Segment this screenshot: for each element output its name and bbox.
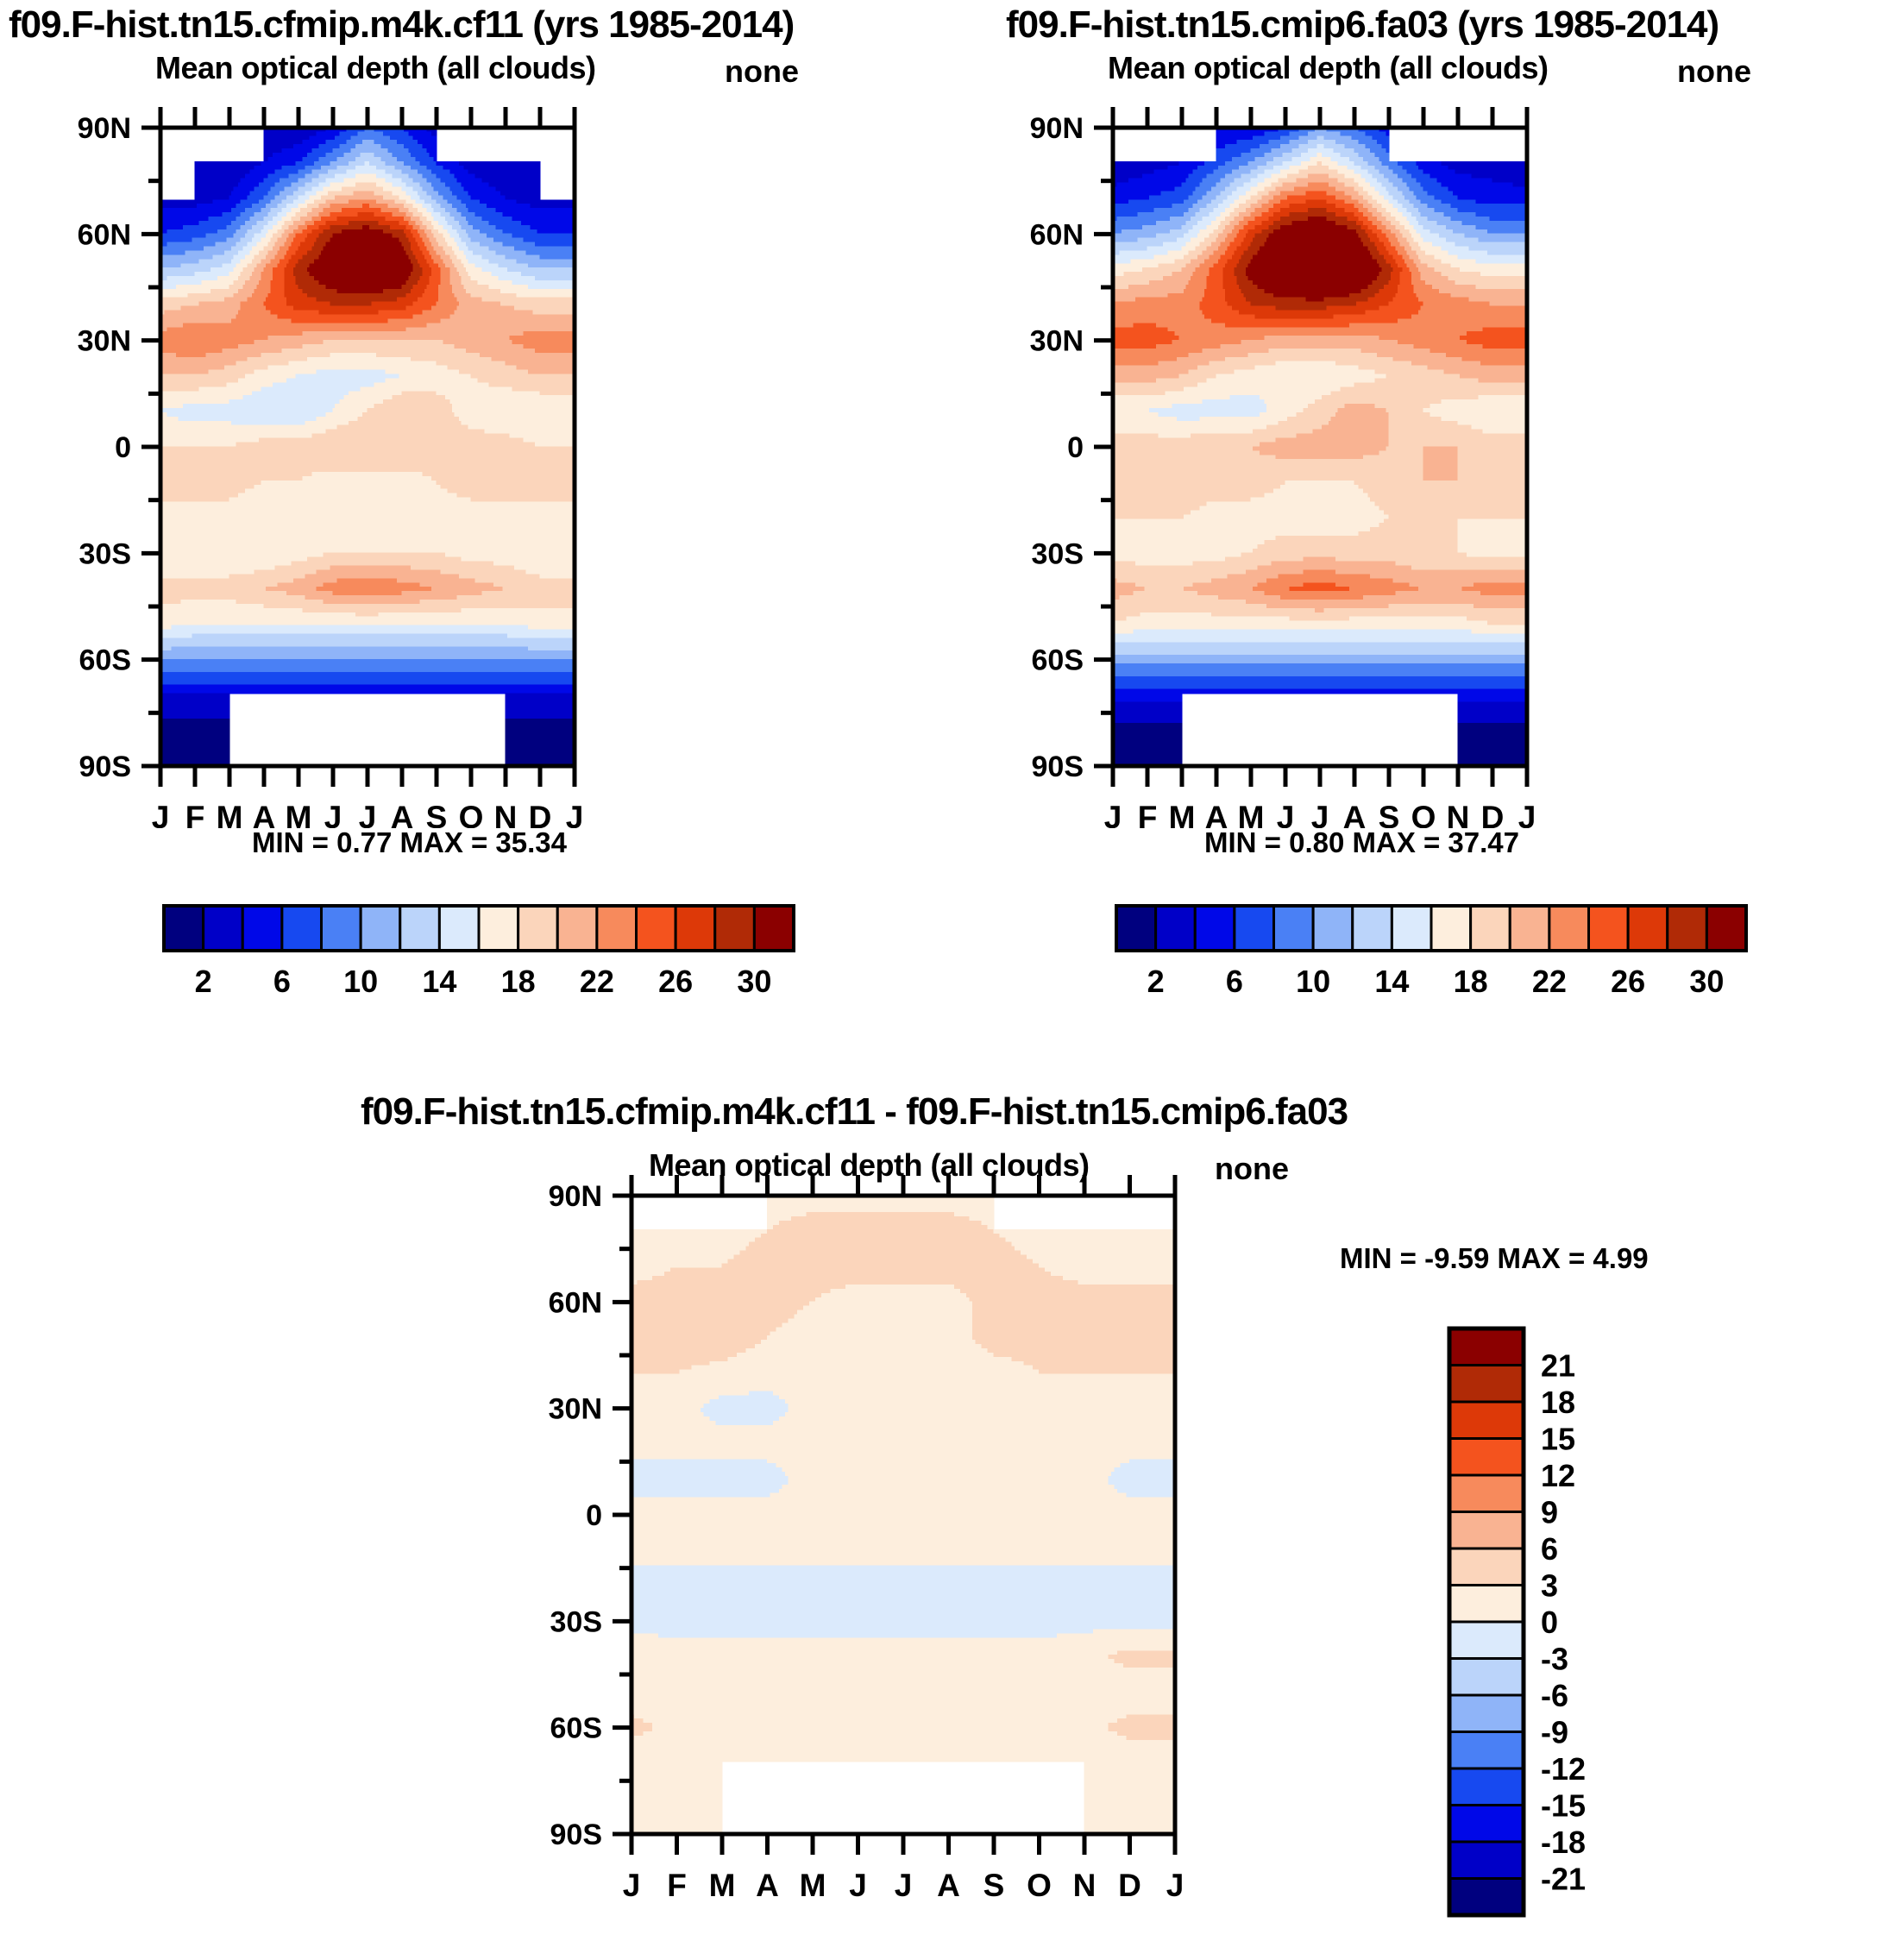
colorbar-cell [1449, 1732, 1524, 1769]
colorbar-tick-label: 6 [273, 964, 291, 999]
colorbar-tick-label: 14 [1374, 964, 1409, 999]
colorbar-cell [1449, 1512, 1524, 1549]
colorbar-tick-label: 10 [1296, 964, 1330, 999]
colorbar-cell [637, 906, 676, 951]
y-axis-label: 30N [78, 325, 131, 358]
colorbar-cell [1431, 906, 1471, 951]
colorbar-tick-label: 21 [1541, 1348, 1575, 1384]
x-axis-label: O [1411, 800, 1436, 828]
colorbar-cell [242, 906, 282, 951]
colorbar-cell [164, 906, 204, 951]
x-axis-label: D [1481, 800, 1505, 828]
colorbar-cell [1549, 906, 1589, 951]
y-axis-label: 0 [586, 1499, 602, 1532]
colorbar-cell [1589, 906, 1629, 951]
colorbar-cell [597, 906, 637, 951]
colorbar-cell [1510, 906, 1549, 951]
x-axis-label: S [426, 800, 448, 828]
colorbar-tick-label: 26 [1611, 964, 1645, 999]
colorbar-cell [439, 906, 479, 951]
colorbar-cells [164, 906, 794, 951]
y-axis-label: 60N [1030, 218, 1084, 251]
colorbar-tick-label: 12 [1541, 1458, 1575, 1493]
colorbar-tick-label: 0 [1541, 1605, 1558, 1640]
colorbar-cell [1156, 906, 1196, 951]
y-axis-label: 60S [550, 1712, 603, 1745]
x-axis-label: M [1169, 800, 1196, 828]
y-axis-label: 90S [550, 1819, 603, 1851]
y-axis-label: 30S [550, 1605, 603, 1638]
x-axis-label: J [623, 1868, 641, 1903]
plot-diff-contour: 90N60N30N030S60S90SJFMAMJJASONDJ [518, 1156, 1311, 1924]
x-axis-label: D [529, 800, 552, 828]
y-axis-label: 90S [79, 751, 132, 783]
colorbar-cell [518, 906, 558, 951]
colorbar-cell [676, 906, 715, 951]
x-axis-label: A [756, 1868, 779, 1903]
y-axis-label: 30N [549, 1393, 602, 1426]
y-axis-label: 60N [78, 218, 131, 251]
colorbar-cell [715, 906, 755, 951]
colorbar-cell [1274, 906, 1314, 951]
y-axis-ticks [1094, 128, 1113, 766]
panel-left-minmax: MIN = 0.77 MAX = 35.34 [252, 826, 567, 859]
colorbar-tick-label: 30 [737, 964, 771, 999]
colorbar-cell [1449, 1768, 1524, 1806]
colorbar-cell [1235, 906, 1274, 951]
colorbar-tick-label: -6 [1541, 1678, 1568, 1713]
colorbar-cell [1449, 1659, 1524, 1696]
y-axis-label: 90N [78, 112, 131, 145]
field-cells [160, 127, 575, 766]
colorbar-tick-label: 6 [1226, 964, 1243, 999]
colorbar-tick-label: 9 [1541, 1495, 1558, 1530]
y-axis-label: 0 [1067, 431, 1084, 464]
colorbar-cell [1706, 906, 1746, 951]
y-axis-label: 30N [1030, 325, 1084, 358]
x-axis-label: N [1447, 800, 1470, 828]
y-axis-label: 30S [79, 537, 132, 570]
colorbar-tick-label: 2 [1147, 964, 1165, 999]
colorbar-cell [1353, 906, 1392, 951]
colorbar-cell [1449, 1842, 1524, 1879]
colorbar-tick-label: 10 [343, 964, 378, 999]
y-axis-label: 90N [549, 1180, 602, 1213]
colorbar-cell [1628, 906, 1668, 951]
x-axis-label: S [983, 1868, 1005, 1903]
colorbar-cell [479, 906, 518, 951]
x-axis-label: J [359, 800, 377, 828]
colorbar-tick-label: 26 [658, 964, 693, 999]
field-cells [631, 1195, 1175, 1834]
x-axis-label: J [849, 1868, 867, 1903]
x-axis-label: O [459, 800, 484, 828]
colorbar-cell [1471, 906, 1511, 951]
colorbar-tick-label: 6 [1541, 1531, 1558, 1567]
y-axis-label: 90N [1030, 112, 1084, 145]
y-axis-ticks [141, 128, 160, 766]
colorbar-cell [361, 906, 400, 951]
x-axis-label: M [1238, 800, 1265, 828]
colorbar-cell [1449, 1475, 1524, 1512]
colorbar-tick-label: 3 [1541, 1568, 1558, 1604]
colorbar-tick-label: 22 [1532, 964, 1567, 999]
x-axis-label: J [1166, 1868, 1185, 1903]
panel-diff: f09.F-hist.tn15.cfmip.m4k.cf11 - f09.F-h… [0, 1070, 1904, 1929]
x-axis-label: J [324, 800, 342, 828]
colorbar-left[interactable]: 26101418222630 [0, 897, 952, 1009]
colorbar-cell [1668, 906, 1707, 951]
x-axis-label: F [1138, 800, 1158, 828]
colorbar-cell [1116, 906, 1156, 951]
colorbar-cell [1449, 1402, 1524, 1439]
colorbar-cell [1449, 1548, 1524, 1586]
colorbar-tick-label: -18 [1541, 1825, 1586, 1860]
x-axis-label: A [391, 800, 414, 828]
y-axis-label: 90S [1032, 751, 1084, 783]
colorbar-tick-label: -12 [1541, 1751, 1586, 1787]
x-axis-label: O [1027, 1868, 1052, 1903]
field-cells [1112, 127, 1527, 766]
colorbar-diff[interactable]: 211815129630-3-6-9-12-15-18-21 [1432, 1320, 1743, 1941]
x-axis-label: S [1379, 800, 1400, 828]
plot-right-contour: 90N60N30N030S60S90SJFMAMJJASONDJ [952, 0, 1904, 828]
x-axis-label: J [1104, 800, 1122, 828]
x-axis-label: F [185, 800, 205, 828]
colorbar-cell [1449, 1695, 1524, 1732]
colorbar-cell [1449, 1806, 1524, 1843]
colorbar-cell [1195, 906, 1235, 951]
panel-diff-minmax: MIN = -9.59 MAX = 4.99 [1340, 1242, 1649, 1275]
colorbar-cell [1449, 1366, 1524, 1403]
colorbar-tick-label: -21 [1541, 1862, 1586, 1897]
y-axis-ticks [613, 1196, 632, 1834]
colorbar-tick-label: 18 [501, 964, 536, 999]
panel-left: f09.F-hist.tn15.cfmip.m4k.cf11 (yrs 1985… [0, 0, 952, 1035]
colorbar-cell [1392, 906, 1431, 951]
colorbar-tick-label: 2 [195, 964, 212, 999]
colorbar-cell [1449, 1879, 1524, 1916]
colorbar-cell [1313, 906, 1353, 951]
plot-left-contour: 90N60N30N030S60S90SJFMAMJJASONDJ [0, 0, 952, 828]
x-axis-label: J [895, 1868, 913, 1903]
x-axis-label: J [152, 800, 170, 828]
panel-diff-title: f09.F-hist.tn15.cfmip.m4k.cf11 - f09.F-h… [361, 1090, 1348, 1134]
colorbar-cell [1449, 1329, 1524, 1366]
colorbar-right[interactable]: 26101418222630 [952, 897, 1904, 1009]
x-axis-label: J [1311, 800, 1329, 828]
colorbar-tick-label: 18 [1454, 964, 1488, 999]
colorbar-cell [1449, 1586, 1524, 1623]
colorbar-tick-label: 18 [1541, 1385, 1575, 1420]
colorbar-cell [204, 906, 243, 951]
x-axis-label: M [709, 1868, 736, 1903]
colorbar-tick-label: -9 [1541, 1715, 1568, 1750]
x-axis-label: N [494, 800, 518, 828]
colorbar-tick-label: 22 [580, 964, 614, 999]
colorbar-tick-label: -3 [1541, 1642, 1568, 1677]
x-axis-label: M [286, 800, 312, 828]
x-axis-label: N [1073, 1868, 1097, 1903]
x-axis-label: J [1518, 800, 1536, 828]
colorbar-cell [557, 906, 597, 951]
x-axis-label: A [937, 1868, 960, 1903]
colorbar-tick-label: 15 [1541, 1422, 1575, 1457]
panel-right: f09.F-hist.tn15.cmip6.fa03 (yrs 1985-201… [952, 0, 1904, 1035]
y-axis-label: 0 [115, 431, 131, 464]
x-axis-label: F [667, 1868, 687, 1903]
y-axis-label: 60S [79, 644, 132, 677]
y-axis-label: 30S [1032, 537, 1084, 570]
x-axis-label: D [1118, 1868, 1141, 1903]
colorbar-tick-label: 30 [1689, 964, 1724, 999]
colorbar-cell [1449, 1439, 1524, 1476]
x-axis-label: A [1205, 800, 1228, 828]
colorbar-cell [400, 906, 440, 951]
colorbar-cell [754, 906, 794, 951]
colorbar-tick-label: 14 [422, 964, 456, 999]
x-axis-label: M [217, 800, 243, 828]
colorbar-cell [282, 906, 322, 951]
x-axis-label: A [1343, 800, 1367, 828]
x-axis-label: A [253, 800, 276, 828]
x-axis-label: J [566, 800, 584, 828]
colorbar-cell [1449, 1622, 1524, 1659]
panel-right-minmax: MIN = 0.80 MAX = 37.47 [1204, 826, 1519, 859]
colorbar-tick-label: -15 [1541, 1788, 1586, 1824]
colorbar-cells [1449, 1329, 1524, 1915]
colorbar-cells [1116, 906, 1746, 951]
y-axis-label: 60S [1032, 644, 1084, 677]
x-axis-label: M [800, 1868, 826, 1903]
y-axis-label: 60N [549, 1286, 602, 1319]
x-axis-label: J [1277, 800, 1295, 828]
colorbar-cell [322, 906, 361, 951]
